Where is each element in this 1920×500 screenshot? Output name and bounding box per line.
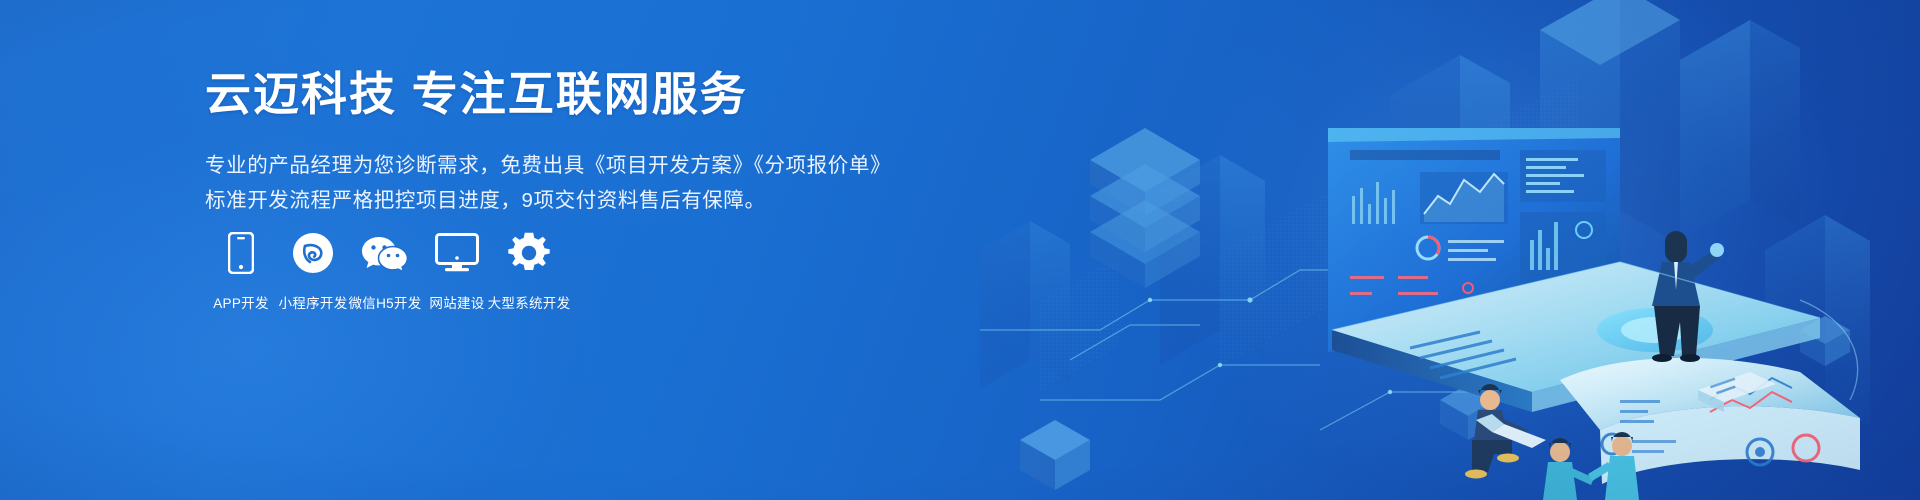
city-towers	[980, 0, 1870, 435]
standing-person	[1652, 231, 1724, 362]
service-item-app[interactable]: APP开发	[205, 228, 277, 312]
dashboard-screen	[1328, 128, 1620, 352]
banner-content: 云迈科技 专注互联网服务 专业的产品经理为您诊断需求，免费出具《项目开发方案》《…	[205, 66, 965, 218]
floating-cubes	[1020, 316, 1850, 490]
service-list: APP开发 小程序开发	[205, 228, 565, 312]
mini-program-icon	[292, 228, 334, 278]
two-persons-talking	[1543, 432, 1639, 500]
mobile-phone-icon	[228, 228, 254, 278]
service-label: 大型系统开发	[488, 292, 571, 312]
service-label: 微信H5开发	[348, 292, 421, 312]
floating-mini-screens	[1698, 372, 1776, 412]
monitor-icon	[435, 228, 479, 278]
background-glow-right	[1150, 0, 1850, 500]
subcopy-line-2: 标准开发流程严格把控项目进度，9项交付资料售后有保障。	[205, 183, 965, 218]
server-stack	[1090, 128, 1200, 288]
page-title: 云迈科技 专注互联网服务	[205, 66, 965, 124]
service-label: APP开发	[213, 292, 269, 312]
subcopy-line-1: 专业的产品经理为您诊断需求，免费出具《项目开发方案》《分项报价单》	[205, 148, 965, 183]
wechat-icon	[361, 228, 409, 278]
service-label: 网站建设	[429, 292, 484, 312]
hero-illustration	[920, 0, 1920, 500]
chart-panel	[1560, 358, 1860, 484]
service-label: 小程序开发	[279, 292, 348, 312]
service-item-wechat-h5[interactable]: 微信H5开发	[349, 228, 421, 312]
hero-banner: 云迈科技 专注互联网服务 专业的产品经理为您诊断需求，免费出具《项目开发方案》《…	[0, 0, 1920, 500]
service-item-large-system[interactable]: 大型系统开发	[493, 228, 565, 312]
tablet-platform	[1332, 262, 1820, 412]
service-item-mini-program[interactable]: 小程序开发	[277, 228, 349, 312]
service-item-website[interactable]: 网站建设	[421, 228, 493, 312]
sitting-person-laptop	[1465, 384, 1546, 479]
gear-icon	[508, 228, 550, 278]
banner-subcopy: 专业的产品经理为您诊断需求，免费出具《项目开发方案》《分项报价单》 标准开发流程…	[205, 148, 965, 219]
